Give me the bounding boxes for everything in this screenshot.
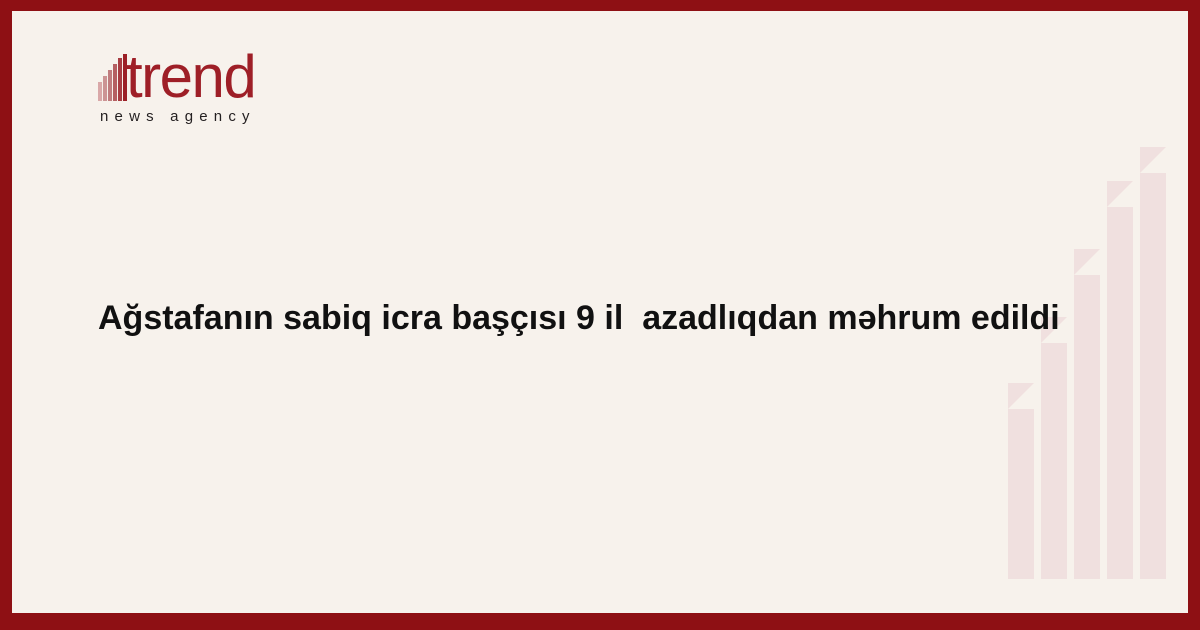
logo-wordmark: trend xyxy=(126,47,255,107)
trend-news-agency-logo[interactable]: trend news agency xyxy=(98,47,338,103)
watermark-bar xyxy=(1140,147,1166,579)
watermark-bar xyxy=(1008,383,1034,579)
watermark-bar xyxy=(1074,249,1100,579)
news-card: trend news agency Ağstafanın sabiq icra … xyxy=(0,0,1200,630)
watermark-bar xyxy=(1041,317,1067,579)
article-headline: Ağstafanın sabiq icra başçısı 9 il azadl… xyxy=(98,292,1073,345)
watermark-bar xyxy=(1107,181,1133,579)
card-canvas: trend news agency Ağstafanın sabiq icra … xyxy=(12,11,1188,613)
logo-tagline: news agency xyxy=(100,109,256,125)
logo-wordmark-row: trend xyxy=(98,47,338,103)
